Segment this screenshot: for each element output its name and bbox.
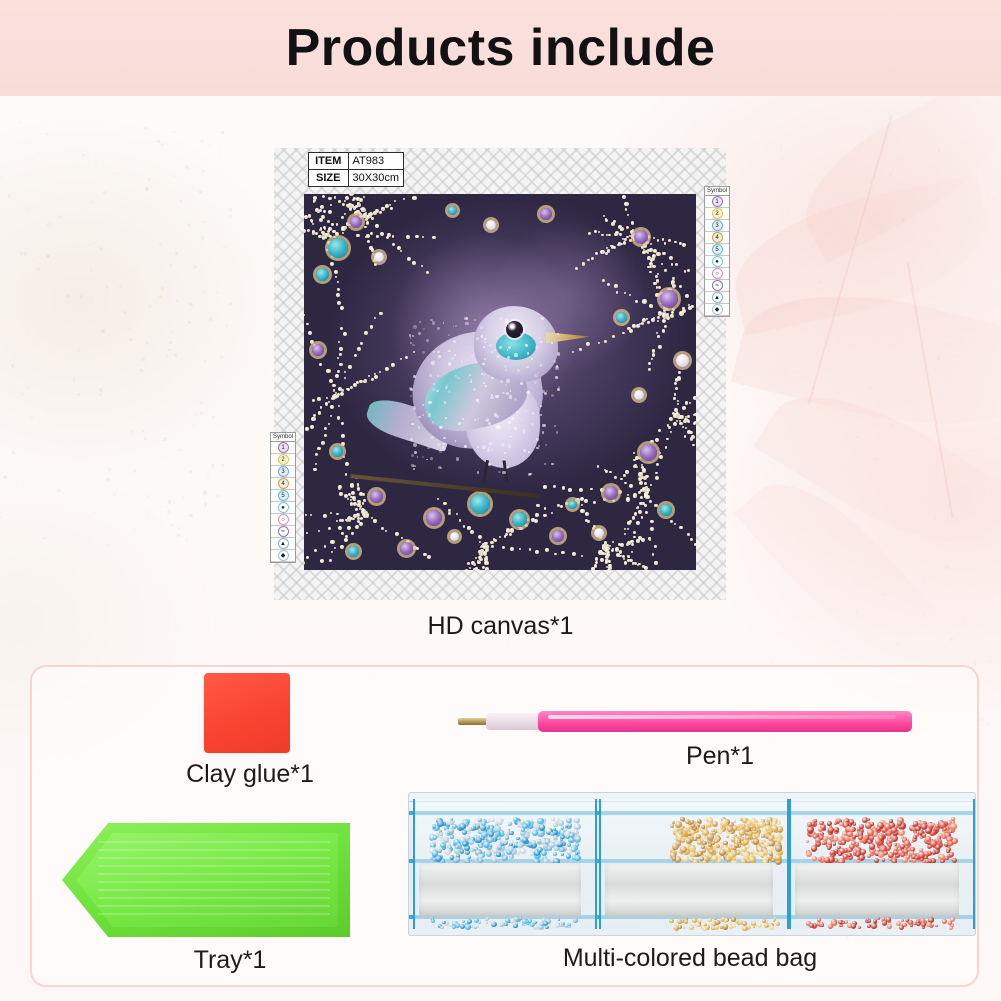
page-title: Products include (0, 0, 1001, 96)
legend-header: Symbol (271, 433, 295, 442)
legend-symbol-icon: 2 (712, 208, 723, 219)
table-row: SIZE 30X30cm (309, 170, 404, 187)
tray-ridges (98, 841, 330, 919)
legend-symbol-icon: 3 (278, 466, 289, 477)
legend-symbol-icon: ○ (278, 514, 289, 525)
legend-symbol-icon: 4 (278, 478, 289, 489)
legend-symbol-icon: ≈ (712, 280, 723, 291)
legend-row-10: ◆ (705, 304, 729, 316)
caption-bead-bag: Multi-colored bead bag (470, 944, 910, 973)
legend-symbol-icon: 5 (278, 490, 289, 501)
clay-glue-item (204, 673, 290, 753)
table-row: ITEM AT983 (309, 153, 404, 170)
legend-symbol-icon: ○ (712, 268, 723, 279)
legend-row-5: 5 (271, 490, 295, 502)
pouch-foil-label (419, 863, 581, 917)
legend-row-3: 3 (705, 220, 729, 232)
legend-row-10: ◆ (271, 550, 295, 562)
legend-row-1: 1 (271, 442, 295, 454)
pen-item (452, 708, 912, 736)
bead-bag-item (408, 792, 976, 936)
pen-highlight (548, 715, 896, 719)
legend-symbol-icon: 2 (278, 454, 289, 465)
hd-canvas-product: ITEM AT983 SIZE 30X30cm Symbol 12345●○≈▲… (274, 148, 726, 600)
legend-row-4: 4 (705, 232, 729, 244)
legend-symbol-icon: ◆ (712, 304, 723, 315)
legend-row-2: 2 (705, 208, 729, 220)
legend-symbol-icon: ● (278, 502, 289, 513)
caption-pen: Pen*1 (560, 742, 880, 771)
legend-symbol-icon: ▲ (712, 292, 723, 303)
bird-illustration (400, 288, 600, 488)
legend-header: Symbol (705, 187, 729, 196)
legend-symbol-icon: ▲ (278, 538, 289, 549)
legend-symbol-icon: ◆ (278, 550, 289, 561)
legend-symbol-icon: 1 (278, 442, 289, 453)
legend-row-9: ▲ (271, 538, 295, 550)
product-info-page: Products include (0, 0, 1001, 1001)
size-value: 30X30cm (348, 170, 403, 187)
legend-symbol-icon: 5 (712, 244, 723, 255)
legend-symbol-icon: 1 (712, 196, 723, 207)
canvas-artwork (304, 194, 696, 570)
legend-row-6: ● (705, 256, 729, 268)
symbol-legend-right: Symbol 12345●○≈▲◆ (704, 186, 730, 317)
legend-row-8: ≈ (271, 526, 295, 538)
item-label: ITEM (309, 153, 349, 170)
legend-row-7: ○ (705, 268, 729, 280)
legend-row-7: ○ (271, 514, 295, 526)
pouch-foil-label (605, 863, 773, 917)
legend-row-1: 1 (705, 196, 729, 208)
caption-clay-glue: Clay glue*1 (120, 760, 380, 789)
legend-row-2: 2 (271, 454, 295, 466)
legend-row-4: 4 (271, 478, 295, 490)
legend-row-6: ● (271, 502, 295, 514)
pouch-foil-label (795, 863, 959, 917)
caption-tray: Tray*1 (110, 946, 350, 975)
legend-row-8: ≈ (705, 280, 729, 292)
legend-row-9: ▲ (705, 292, 729, 304)
legend-symbol-icon: 4 (712, 232, 723, 243)
item-value: AT983 (348, 153, 403, 170)
legend-symbol-icon: 3 (712, 220, 723, 231)
caption-hd-canvas: HD canvas*1 (0, 612, 1001, 641)
pen-ferrule (486, 713, 542, 730)
symbol-legend-left: Symbol 12345●○≈▲◆ (270, 432, 296, 563)
legend-symbol-icon: ● (712, 256, 723, 267)
legend-row-5: 5 (705, 244, 729, 256)
size-label: SIZE (309, 170, 349, 187)
legend-row-3: 3 (271, 466, 295, 478)
legend-symbol-icon: ≈ (278, 526, 289, 537)
item-spec-table: ITEM AT983 SIZE 30X30cm (308, 152, 404, 187)
